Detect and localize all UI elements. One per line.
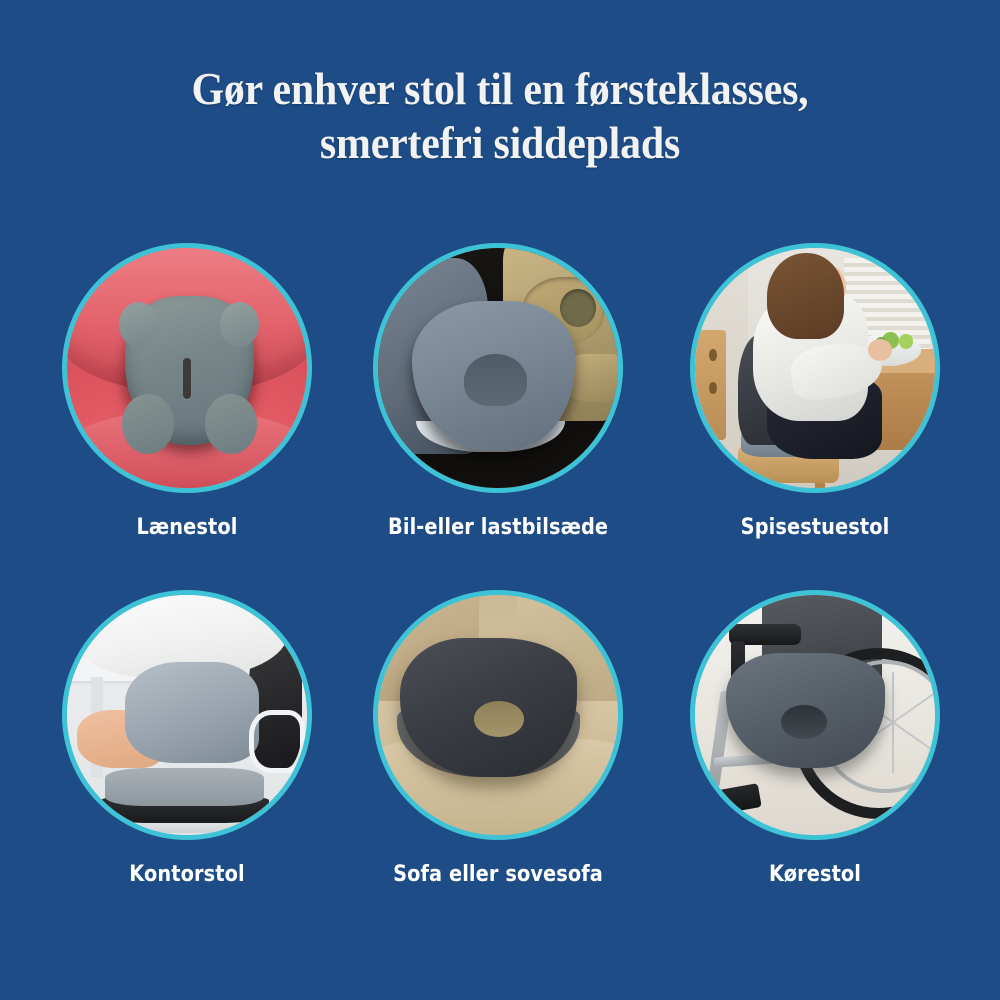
page-title: Gør enhver stol til en førsteklasses, sm… [35,62,965,170]
use-case-grid: Lænestol Bil-eller lastbilsæde [0,243,1000,937]
armchair-photo [62,243,312,493]
office-chair-photo [62,590,312,840]
use-case-row-1: Lænestol Bil-eller lastbilsæde [0,243,1000,590]
use-case-label: Lænestol [77,515,297,540]
sofa-photo [373,590,623,840]
wheelchair-photo [690,590,940,840]
use-case-label: Kørestol [705,862,925,887]
use-case-card-sofa[interactable]: Sofa eller sovesofa [373,590,623,887]
page-title-line-2: smertefri siddeplads [35,116,965,170]
use-case-row-2: Kontorstol Sofa eller sovesofa [0,590,1000,937]
use-case-label: Spisestuestol [705,515,925,540]
use-case-card-dining-chair[interactable]: Spisestuestol [690,243,940,540]
use-case-label: Bil-eller lastbilsæde [388,515,608,540]
use-case-card-car-seat[interactable]: Bil-eller lastbilsæde [373,243,623,540]
page-title-line-1: Gør enhver stol til en førsteklasses, [35,62,965,116]
car-seat-photo [373,243,623,493]
use-case-card-wheelchair[interactable]: Kørestol [690,590,940,887]
use-case-card-armchair[interactable]: Lænestol [62,243,312,540]
use-case-card-office-chair[interactable]: Kontorstol [62,590,312,887]
use-case-label: Sofa eller sovesofa [388,862,608,887]
use-case-label: Kontorstol [77,862,297,887]
dining-chair-photo [690,243,940,493]
